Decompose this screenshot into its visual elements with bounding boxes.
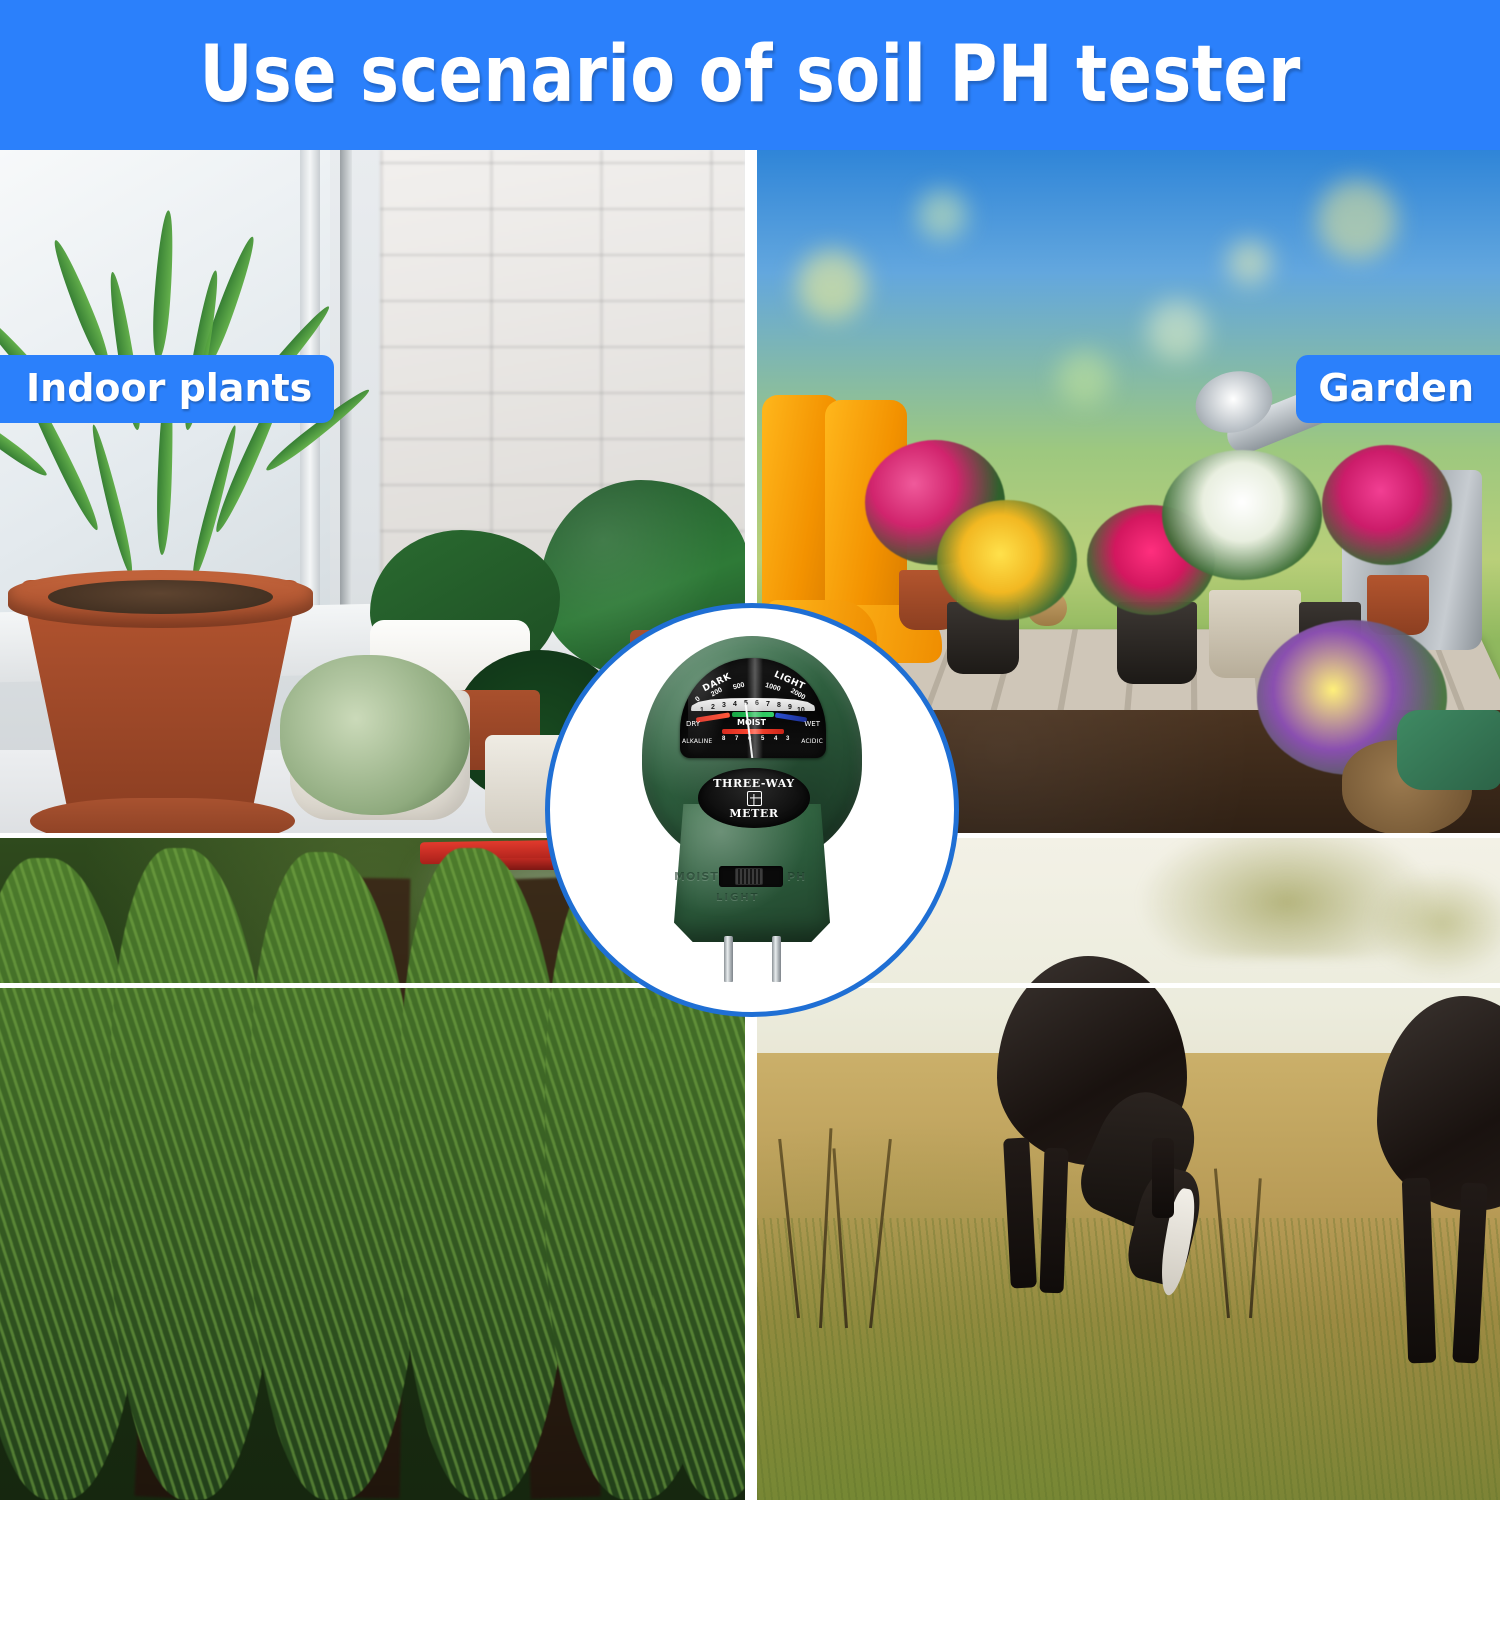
pot-soil (48, 580, 273, 614)
badge-line-1: THREE-WAY (713, 777, 795, 790)
white-flowers (1162, 450, 1322, 580)
product-highlight-circle: DARK LIGHT 0 200 500 1000 2000 1 2 3 4 5… (545, 603, 959, 1017)
yellow-pansies (937, 500, 1077, 620)
soil-probe-left (724, 936, 733, 982)
ph-tick-4: 4 (774, 736, 777, 742)
header-banner: Use scenario of soil PH tester (0, 0, 1500, 150)
light-tick-500: 500 (732, 682, 745, 692)
switch-label-moist: MOIST (674, 870, 719, 883)
moist-tick-7: 7 (766, 701, 770, 708)
three-way-meter-badge: THREE-WAY METER (698, 768, 810, 828)
mode-switch-knob[interactable] (735, 868, 763, 885)
page-title: Use scenario of soil PH tester (199, 30, 1300, 120)
jade-plant (280, 655, 470, 815)
pot-saucer (30, 798, 295, 833)
mode-switch[interactable] (719, 866, 783, 887)
label-indoor-plants: Indoor plants (0, 355, 334, 423)
moist-tick-9: 9 (788, 704, 792, 711)
ph-tick-7: 7 (735, 736, 738, 742)
gardening-glove (1397, 710, 1500, 790)
dial-band-wet (775, 713, 807, 723)
switch-label-light: LIGHT (716, 892, 760, 903)
meter-symbol-icon (747, 791, 762, 806)
pink-flowers-2 (1322, 445, 1452, 565)
moist-tick-4: 4 (733, 701, 737, 708)
label-garden: Garden (1296, 355, 1500, 423)
badge-line-2: METER (729, 807, 778, 820)
moist-tick-10: 10 (797, 707, 805, 714)
dial-label-wet: WET (804, 720, 820, 728)
soil-probe-right (772, 936, 781, 982)
light-tick-1000: 1000 (764, 682, 781, 693)
ph-tick-3: 3 (786, 736, 789, 742)
dial-label-acidic: ACIDIC (801, 738, 823, 745)
moist-tick-8: 8 (777, 702, 781, 709)
soil-meter-device: DARK LIGHT 0 200 500 1000 2000 1 2 3 4 5… (636, 636, 868, 966)
switch-label-ph: PH (787, 870, 806, 883)
